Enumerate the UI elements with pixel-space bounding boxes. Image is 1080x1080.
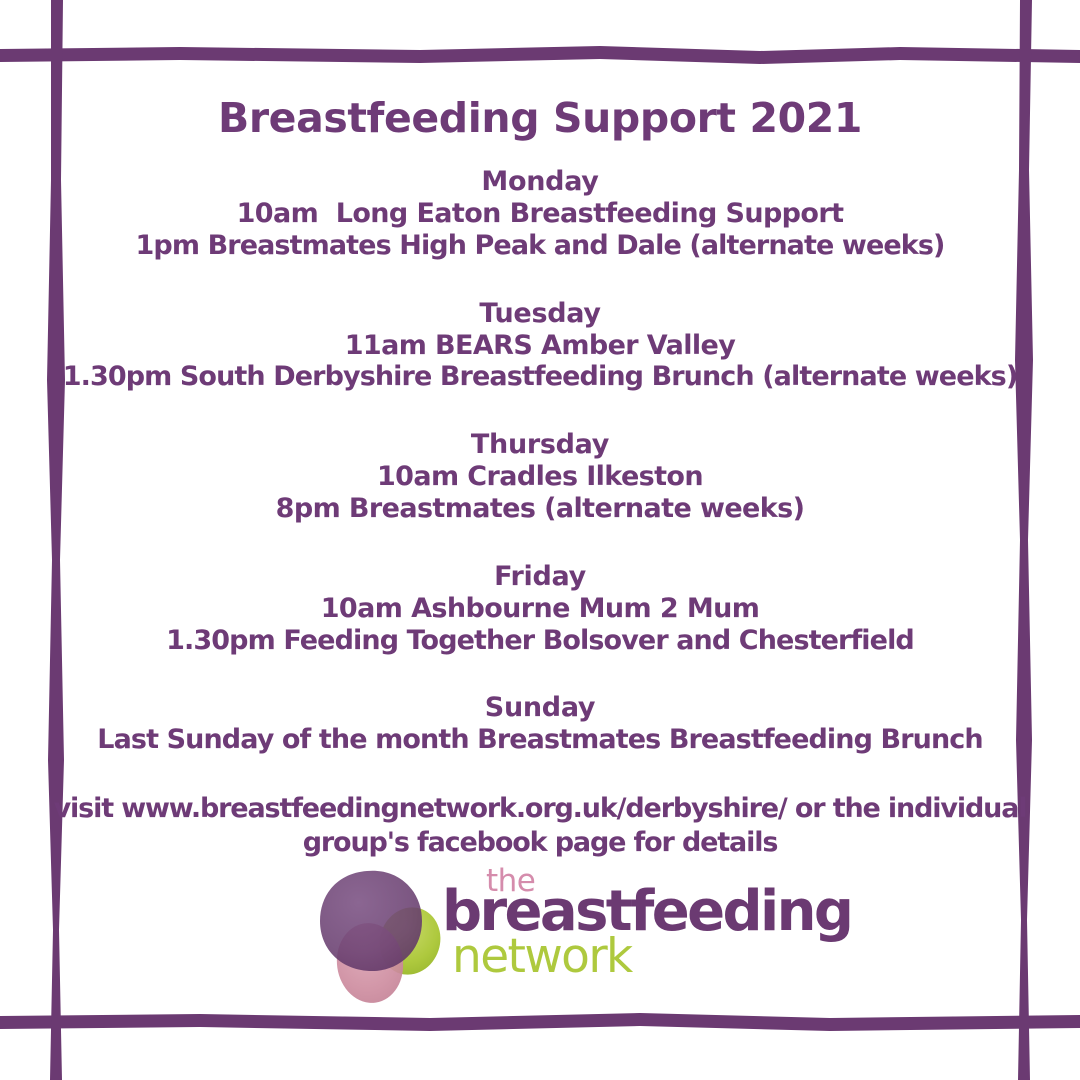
session-line: 10am Ashbourne Mum 2 Mum (0, 593, 1080, 625)
session-line: 1pm Breastmates High Peak and Dale (alte… (0, 230, 1080, 262)
day-block-sunday: Sunday Last Sunday of the month Breastma… (0, 692, 1080, 756)
poster-content: Breastfeeding Support 2021 Monday 10am L… (0, 0, 1080, 860)
logo-wordmark: the breastfeeding network (442, 862, 792, 1002)
visit-info: visit www.breastfeedingnetwork.org.uk/de… (0, 792, 1080, 860)
session-line: 1.30pm South Derbyshire Breastfeeding Br… (0, 361, 1080, 393)
session-line: Last Sunday of the month Breastmates Bre… (0, 724, 1080, 756)
logo-text-network: network (452, 933, 632, 980)
day-block-monday: Monday 10am Long Eaton Breastfeeding Sup… (0, 166, 1080, 262)
poster-canvas: Breastfeeding Support 2021 Monday 10am L… (0, 0, 1080, 1080)
day-heading: Tuesday (0, 298, 1080, 330)
day-heading: Thursday (0, 429, 1080, 461)
visit-line-2: group's facebook page for details (0, 826, 1080, 860)
logo-petal-purple (320, 871, 422, 971)
logo-petals-icon (306, 858, 456, 1008)
day-block-tuesday: Tuesday 11am BEARS Amber Valley 1.30pm S… (0, 298, 1080, 394)
day-heading: Sunday (0, 692, 1080, 724)
day-block-friday: Friday 10am Ashbourne Mum 2 Mum 1.30pm F… (0, 561, 1080, 657)
session-line: 8pm Breastmates (alternate weeks) (0, 493, 1080, 525)
breastfeeding-network-logo: the breastfeeding network (306, 858, 786, 1008)
session-line: 11am BEARS Amber Valley (0, 330, 1080, 362)
session-line: 10am Long Eaton Breastfeeding Support (0, 198, 1080, 230)
page-title: Breastfeeding Support 2021 (0, 0, 1080, 142)
day-block-thursday: Thursday 10am Cradles Ilkeston 8pm Breas… (0, 429, 1080, 525)
session-line: 10am Cradles Ilkeston (0, 461, 1080, 493)
day-heading: Monday (0, 166, 1080, 198)
session-line: 1.30pm Feeding Together Bolsover and Che… (0, 625, 1080, 657)
schedule-list: Monday 10am Long Eaton Breastfeeding Sup… (0, 166, 1080, 756)
visit-line-1[interactable]: visit www.breastfeedingnetwork.org.uk/de… (0, 792, 1080, 826)
frame-line-bottom (0, 1013, 1080, 1031)
day-heading: Friday (0, 561, 1080, 593)
